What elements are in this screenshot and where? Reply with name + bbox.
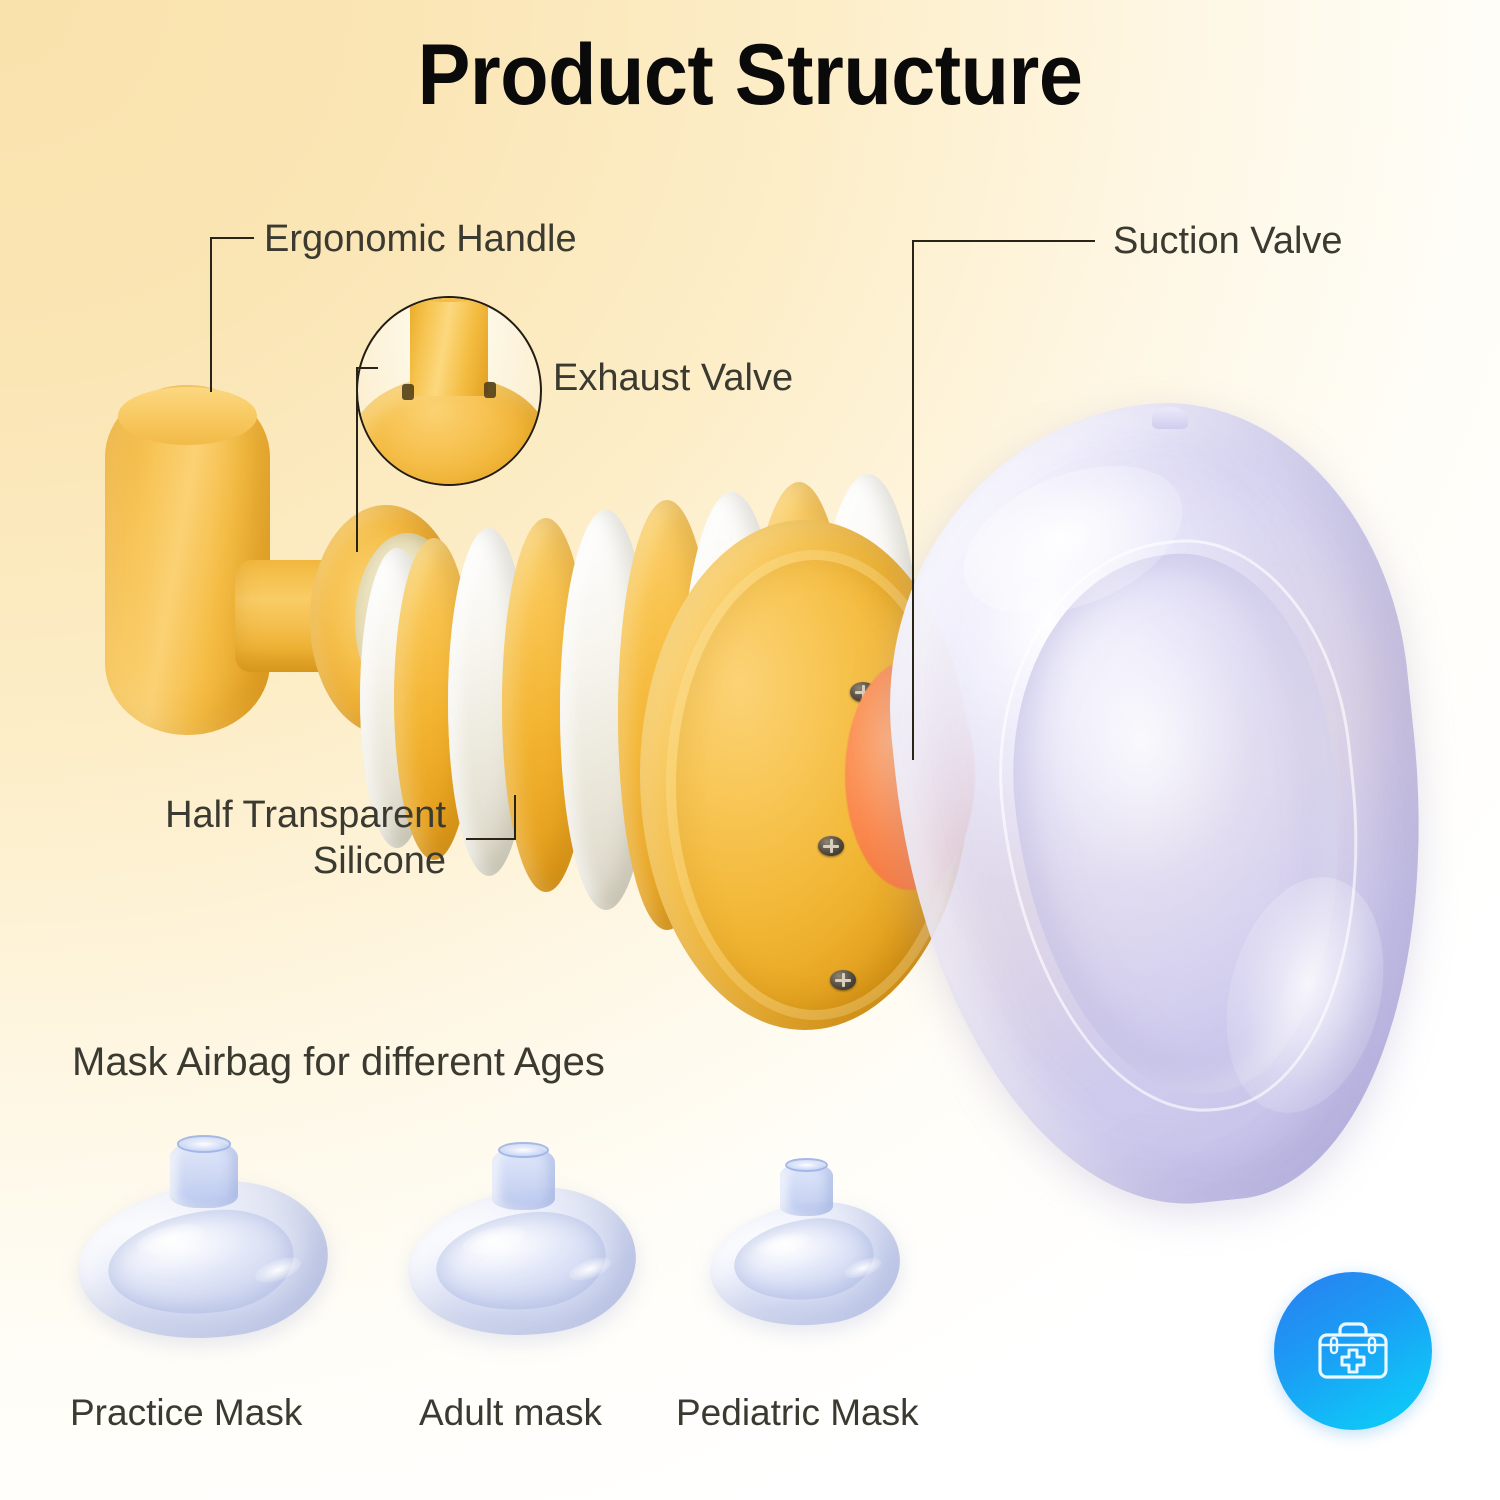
adult-mask-cushion-large	[900, 405, 1420, 1205]
leader-silicone-v	[514, 795, 516, 840]
leader-ergonomic-handle-v	[210, 237, 212, 392]
mask-port	[492, 1146, 555, 1210]
mask-item-practice-mask[interactable]	[78, 1140, 328, 1355]
callout-label-half-transparent-silicone: Half Transparent Silicone	[116, 792, 446, 885]
housing-screw	[830, 970, 856, 990]
mask-inflation-nub	[1152, 407, 1188, 429]
mask-port	[170, 1140, 238, 1208]
page-title: Product Structure	[60, 26, 1440, 125]
mask-item-pediatric-mask[interactable]	[710, 1160, 900, 1340]
inset-valve-slot	[402, 384, 414, 400]
callout-label-suction-valve: Suction Valve	[1113, 218, 1343, 264]
leader-silicone-h	[466, 838, 516, 840]
exhaust-valve-zoom-inset	[356, 296, 542, 486]
leader-exhaust-valve-v	[356, 367, 358, 552]
silicone-label-line1: Half Transparent	[165, 794, 446, 836]
mask-caption-adult-mask: Adult mask	[419, 1392, 602, 1434]
mask-item-adult-mask[interactable]	[408, 1146, 636, 1351]
callout-label-exhaust-valve: Exhaust Valve	[553, 355, 793, 401]
inset-valve-slot	[484, 382, 496, 398]
first-aid-kit-badge[interactable]	[1274, 1272, 1432, 1430]
leader-exhaust-valve-h	[356, 367, 378, 369]
infographic-canvas: Product Structure	[0, 0, 1500, 1500]
mask-section-heading: Mask Airbag for different Ages	[72, 1038, 605, 1087]
callout-label-ergonomic-handle: Ergonomic Handle	[264, 216, 577, 262]
mask-caption-practice-mask: Practice Mask	[70, 1392, 302, 1434]
housing-screw	[818, 836, 844, 856]
inset-valve-cylinder	[410, 296, 488, 396]
silicone-label-line2: Silicone	[313, 840, 446, 882]
leader-ergonomic-handle-h	[210, 237, 254, 239]
leader-suction-valve-h	[912, 240, 1095, 242]
mask-caption-pediatric-mask: Pediatric Mask	[676, 1392, 919, 1434]
mask-port	[780, 1162, 833, 1216]
leader-suction-valve-v	[912, 240, 914, 760]
first-aid-kit-icon	[1307, 1305, 1399, 1397]
